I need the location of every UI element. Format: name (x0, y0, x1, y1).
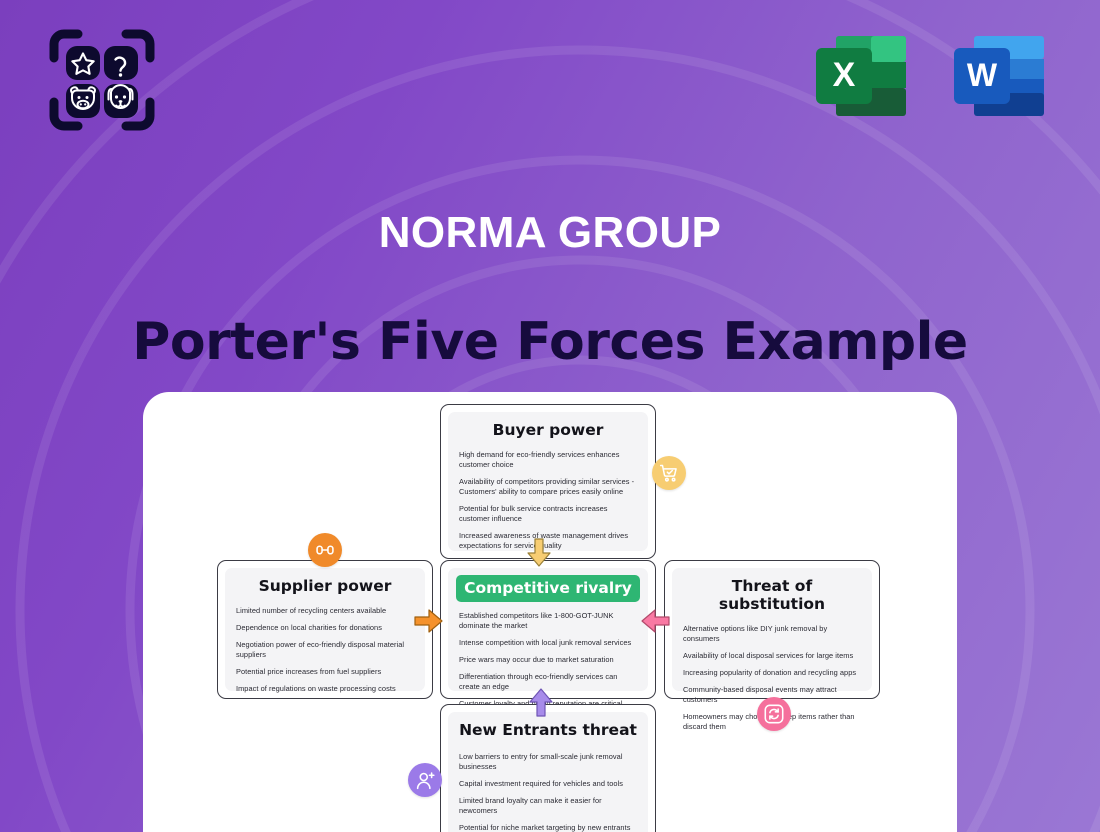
page-title: Porter's Five Forces Example (0, 312, 1100, 372)
svg-text:W: W (967, 57, 998, 93)
list-item: Intense competition with local junk remo… (459, 638, 637, 648)
list-item: Increasing popularity of donation and re… (683, 668, 861, 678)
shopping-cart-icon[interactable] (652, 456, 686, 490)
list-item: Low barriers to entry for small-scale ju… (459, 752, 637, 772)
list-item: Limited brand loyalty can make it easier… (459, 796, 637, 816)
slide-canvas: X W NORMA GROUP Porter's Five Forces Exa… (0, 0, 1100, 832)
list-item: High demand for eco-friendly services en… (459, 450, 637, 470)
force-box-rivalry[interactable]: Competitive rivalry Established competit… (440, 560, 656, 699)
list-item: Potential for bulk service contracts inc… (459, 504, 637, 524)
svg-text:X: X (833, 56, 856, 94)
list-item: Price wars may occur due to market satur… (459, 655, 637, 665)
arrow-down-icon (526, 538, 552, 568)
force-title-supplier: Supplier power (236, 577, 414, 595)
list-item: Alternative options like DIY junk remova… (683, 624, 861, 644)
scan-frame-logo-icon (48, 28, 156, 132)
list-item: Limited number of recycling centers avai… (236, 606, 414, 616)
arrow-up-icon (528, 687, 554, 717)
list-item: Established competitors like 1-800-GOT-J… (459, 611, 637, 631)
list-item: Availability of competitors providing si… (459, 477, 637, 497)
list-item: Capital investment required for vehicles… (459, 779, 637, 789)
force-title-buyer: Buyer power (459, 421, 637, 439)
force-title-rivalry: Competitive rivalry (456, 575, 640, 602)
arrow-right-icon (414, 608, 444, 634)
force-title-new-entrants: New Entrants threat (459, 721, 637, 739)
arrow-left-icon (640, 608, 670, 634)
force-title-substitution: Threat of substitution (683, 577, 861, 613)
diagram-card: Buyer power High demand for eco-friendly… (143, 392, 957, 832)
list-item: Potential for niche market targeting by … (459, 823, 637, 832)
porters-five-forces-diagram: Buyer power High demand for eco-friendly… (143, 392, 957, 832)
list-item: Negotiation power of eco-friendly dispos… (236, 640, 414, 660)
force-items-supplier: Limited number of recycling centers avai… (236, 606, 414, 694)
add-person-icon[interactable] (408, 763, 442, 797)
word-icon[interactable]: W (950, 30, 1048, 122)
force-box-substitution[interactable]: Threat of substitution Alternative optio… (664, 560, 880, 699)
list-item: Potential price increases from fuel supp… (236, 667, 414, 677)
chain-link-icon[interactable] (308, 533, 342, 567)
excel-icon[interactable]: X (812, 30, 910, 122)
force-items-new-entrants: Low barriers to entry for small-scale ju… (459, 752, 637, 832)
force-box-new-entrants[interactable]: New Entrants threat Low barriers to entr… (440, 704, 656, 832)
brand-name: NORMA GROUP (0, 208, 1100, 258)
list-item: Availability of local disposal services … (683, 651, 861, 661)
office-app-icons: X W (812, 30, 1048, 122)
refresh-sync-icon[interactable] (757, 697, 791, 731)
force-items-buyer: High demand for eco-friendly services en… (459, 450, 637, 551)
list-item: Impact of regulations on waste processin… (236, 684, 414, 694)
force-box-buyer[interactable]: Buyer power High demand for eco-friendly… (440, 404, 656, 559)
list-item: Dependence on local charities for donati… (236, 623, 414, 633)
force-box-supplier[interactable]: Supplier power Limited number of recycli… (217, 560, 433, 699)
